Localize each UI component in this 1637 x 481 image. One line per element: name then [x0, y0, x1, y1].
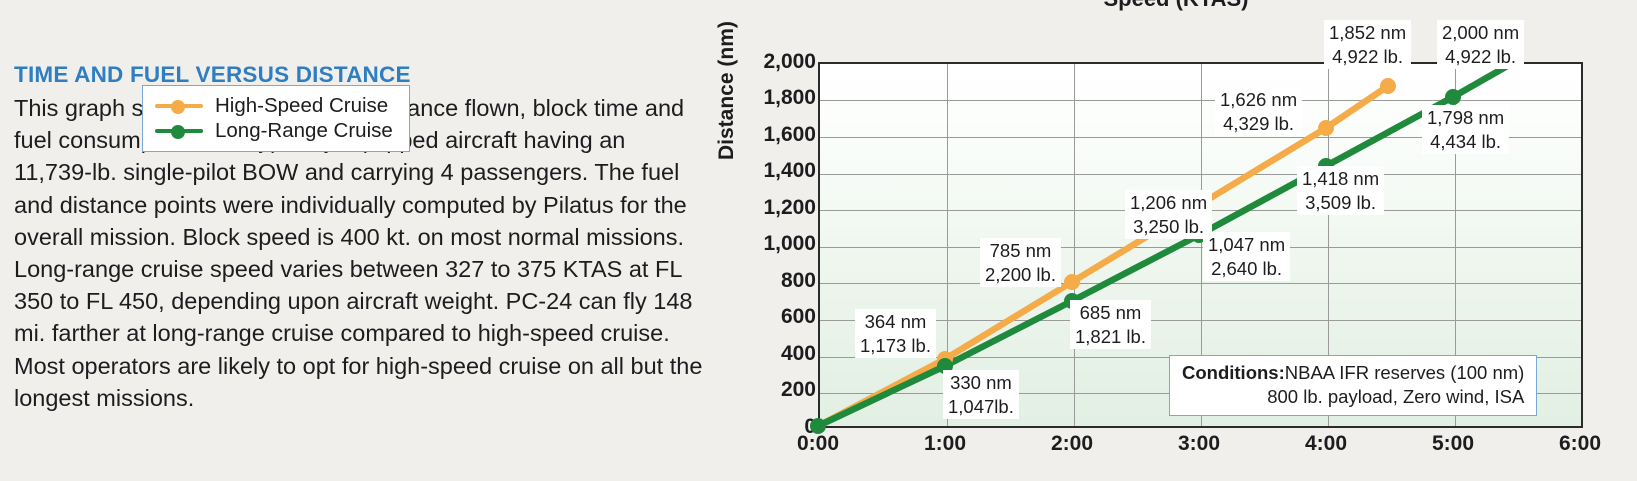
legend-label-high-speed-cruise: High-Speed Cruise: [215, 94, 388, 118]
callout-hs-364-distance: 364 nm: [860, 310, 931, 334]
callout-lr-330-distance: 330 nm: [948, 371, 1014, 395]
gridline-2-00: [1074, 64, 1075, 426]
callout-hs-1206-distance: 1,206 nm: [1130, 191, 1207, 215]
callout-lr-1047-distance: 1,047 nm: [1208, 233, 1285, 257]
callout-lr-685: 685 nm 1,821 lb.: [1070, 300, 1151, 349]
chart-legend: High-Speed Cruise Long-Range Cruise: [142, 85, 410, 152]
callout-hs-785-distance: 785 nm: [985, 239, 1056, 263]
y-axis-tick-labels: 2,000 1,800 1,600 1,400 1,200 1,000 800 …: [742, 0, 816, 481]
legend-swatch-long-range-cruise: [155, 123, 203, 139]
y-tick-400: 400: [742, 342, 816, 366]
x-tick-1-00: 1:00: [905, 432, 985, 456]
callout-lr-330: 330 nm 1,047lb.: [943, 370, 1019, 419]
callout-lr-1418: 1,418 nm 3,509 lb.: [1297, 166, 1384, 215]
callout-lr-1798-fuel: 4,434 lb.: [1427, 130, 1504, 154]
y-tick-1200: 1,200: [742, 196, 816, 220]
callout-lr-1798-distance: 1,798 nm: [1427, 106, 1504, 130]
legend-swatch-high-speed-cruise: [155, 98, 203, 114]
y-tick-600: 600: [742, 305, 816, 329]
callout-hs-1852: 1,852 nm 4,922 lb.: [1324, 20, 1411, 69]
callout-lr-1047: 1,047 nm 2,640 lb.: [1203, 232, 1290, 281]
callout-hs-364-fuel: 1,173 lb.: [860, 334, 931, 358]
callout-lr-1798: 1,798 nm 4,434 lb.: [1422, 105, 1509, 154]
y-tick-1600: 1,600: [742, 123, 816, 147]
legend-item-long-range-cruise[interactable]: Long-Range Cruise: [155, 118, 393, 143]
callout-hs-1206: 1,206 nm 3,250 lb.: [1125, 190, 1212, 239]
conditions-box: Conditions: NBAA IFR reserves (100 nm) 8…: [1169, 355, 1537, 416]
callout-hs-364: 364 nm 1,173 lb.: [855, 309, 936, 358]
x-tick-3-00: 3:00: [1159, 432, 1239, 456]
x-tick-0-00: 0:00: [778, 432, 858, 456]
callout-hs-1206-fuel: 3,250 lb.: [1130, 215, 1207, 239]
article-panel: TIME AND FUEL VERSUS DISTANCE This graph…: [0, 0, 716, 481]
legend-label-long-range-cruise: Long-Range Cruise: [215, 119, 393, 143]
chart-top-title-fragment: Speed (KTAS): [1046, 0, 1306, 12]
y-tick-200: 200: [742, 378, 816, 402]
callout-lr-685-fuel: 1,821 lb.: [1075, 325, 1146, 349]
callout-lr-2000: 2,000 nm 4,922 lb.: [1437, 20, 1524, 69]
x-tick-4-00: 4:00: [1286, 432, 1366, 456]
callout-lr-1418-fuel: 3,509 lb.: [1302, 191, 1379, 215]
callout-hs-1626-fuel: 4,329 lb.: [1220, 112, 1297, 136]
callout-lr-2000-distance: 2,000 nm: [1442, 21, 1519, 45]
y-tick-1000: 1,000: [742, 232, 816, 256]
y-tick-1800: 1,800: [742, 86, 816, 110]
x-tick-2-00: 2:00: [1032, 432, 1112, 456]
callout-lr-2000-fuel: 4,922 lb.: [1442, 45, 1519, 69]
y-tick-1400: 1,400: [742, 159, 816, 183]
y-tick-800: 800: [742, 269, 816, 293]
x-tick-6-00: 6:00: [1540, 432, 1620, 456]
callout-hs-1626-distance: 1,626 nm: [1220, 88, 1297, 112]
legend-item-high-speed-cruise[interactable]: High-Speed Cruise: [155, 93, 393, 118]
callout-hs-785-fuel: 2,200 lb.: [985, 263, 1056, 287]
conditions-label: Conditions:: [1182, 361, 1285, 385]
x-tick-5-00: 5:00: [1413, 432, 1493, 456]
conditions-line-2: 800 lb. payload, Zero wind, ISA: [1182, 385, 1524, 409]
callout-hs-1852-distance: 1,852 nm: [1329, 21, 1406, 45]
callout-hs-1626: 1,626 nm 4,329 lb.: [1215, 87, 1302, 136]
y-axis-title: Distance (nm): [715, 21, 739, 160]
conditions-line-1: NBAA IFR reserves (100 nm): [1285, 361, 1525, 385]
y-tick-2000: 2,000: [742, 50, 816, 74]
callout-lr-1418-distance: 1,418 nm: [1302, 167, 1379, 191]
callout-lr-685-distance: 685 nm: [1075, 301, 1146, 325]
callout-hs-785: 785 nm 2,200 lb.: [980, 238, 1061, 287]
x-axis-tick-labels: 0:00 1:00 2:00 3:00 4:00 5:00 6:00: [818, 432, 1583, 472]
callout-hs-1852-fuel: 4,922 lb.: [1329, 45, 1406, 69]
callout-lr-1047-fuel: 2,640 lb.: [1208, 257, 1285, 281]
callout-lr-330-fuel: 1,047lb.: [948, 395, 1014, 419]
